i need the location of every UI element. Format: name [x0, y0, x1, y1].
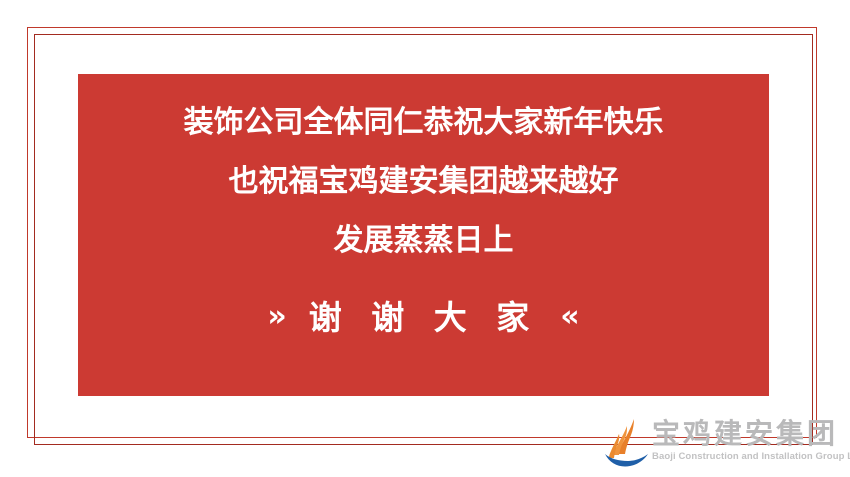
red-content-panel: 装饰公司全体同仁恭祝大家新年快乐 也祝福宝鸡建安集团越来越好 发展蒸蒸日上 » … [78, 74, 769, 396]
double-chevron-left-icon: « [560, 302, 579, 332]
double-chevron-right-icon: » [267, 302, 286, 332]
thank-you-text: 谢 谢 大 家 [309, 301, 538, 334]
message-line-2: 也祝福宝鸡建安集团越来越好 [229, 167, 619, 197]
company-logo: 宝鸡建安集团 Baoji Construction and Installati… [604, 417, 846, 473]
flame-swoosh-logo-icon [604, 417, 652, 469]
message-line-3: 发展蒸蒸日上 [334, 226, 514, 256]
presentation-slide: 装饰公司全体同仁恭祝大家新年快乐 也祝福宝鸡建安集团越来越好 发展蒸蒸日上 » … [0, 0, 850, 477]
message-line-1: 装饰公司全体同仁恭祝大家新年快乐 [184, 108, 664, 138]
logo-name-cn: 宝鸡建安集团 [652, 419, 850, 448]
logo-name-en: Baoji Construction and Installation Grou… [652, 451, 850, 462]
closing-message-block: 装饰公司全体同仁恭祝大家新年快乐 也祝福宝鸡建安集团越来越好 发展蒸蒸日上 » … [78, 74, 769, 396]
logo-text-block: 宝鸡建安集团 Baoji Construction and Installati… [652, 417, 850, 462]
thank-you-line: » 谢 谢 大 家 « [267, 301, 579, 334]
